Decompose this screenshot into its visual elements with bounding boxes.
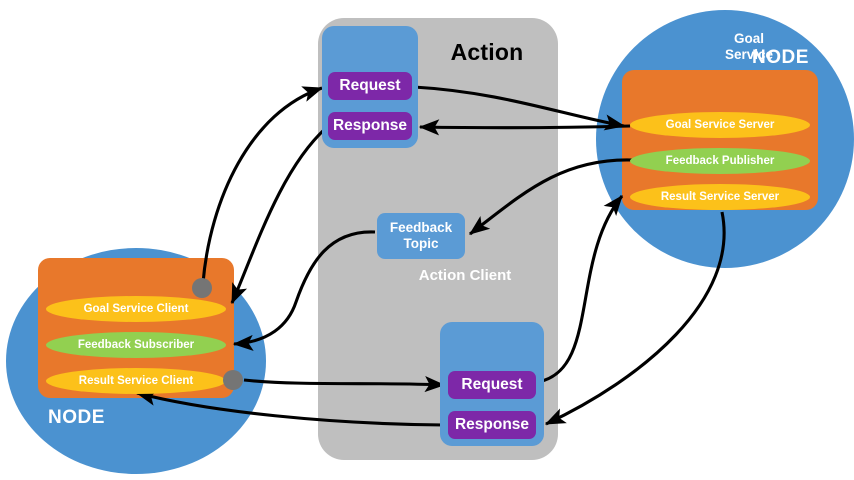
goal-service-title-line1: Goal [734, 31, 764, 46]
server-node-label: NODE [752, 47, 809, 69]
result-service-title-line2: Service [843, 343, 854, 358]
feedback-subscriber-pill[interactable]: Feedback Subscriber [46, 332, 226, 358]
action-client-title: Action Client [38, 267, 854, 284]
goal-service-request[interactable]: Request [328, 72, 412, 100]
result-service-client-pill[interactable]: Result Service Client [46, 368, 226, 394]
result-service-response[interactable]: Response [448, 411, 536, 439]
action-server-title: Action Sever [622, 82, 854, 99]
client-node-label: NODE [48, 407, 105, 429]
result-service-title: Result Service [440, 327, 854, 359]
result-service-title-line1: Result [846, 327, 854, 342]
arrow-goalclient-to-goalrequest [203, 88, 322, 283]
feedback-publisher-pill[interactable]: Feedback Publisher [630, 148, 810, 174]
goal-service-client-pill[interactable]: Goal Service Client [46, 296, 226, 322]
feedback-topic-line1: Feedback [390, 220, 452, 235]
goal-service-server-pill[interactable]: Goal Service Server [630, 112, 810, 138]
goal-client-connector-dot [192, 278, 212, 298]
feedback-topic-line2: Topic [404, 236, 439, 251]
result-service-server-pill[interactable]: Result Service Server [630, 184, 810, 210]
result-service-request[interactable]: Request [448, 371, 536, 399]
goal-service-response[interactable]: Response [328, 112, 412, 140]
feedback-topic-box[interactable]: Feedback Topic [377, 213, 465, 259]
result-client-connector-dot [223, 370, 243, 390]
diagram-canvas: Action Goal Service Request Response Fee… [0, 0, 854, 480]
